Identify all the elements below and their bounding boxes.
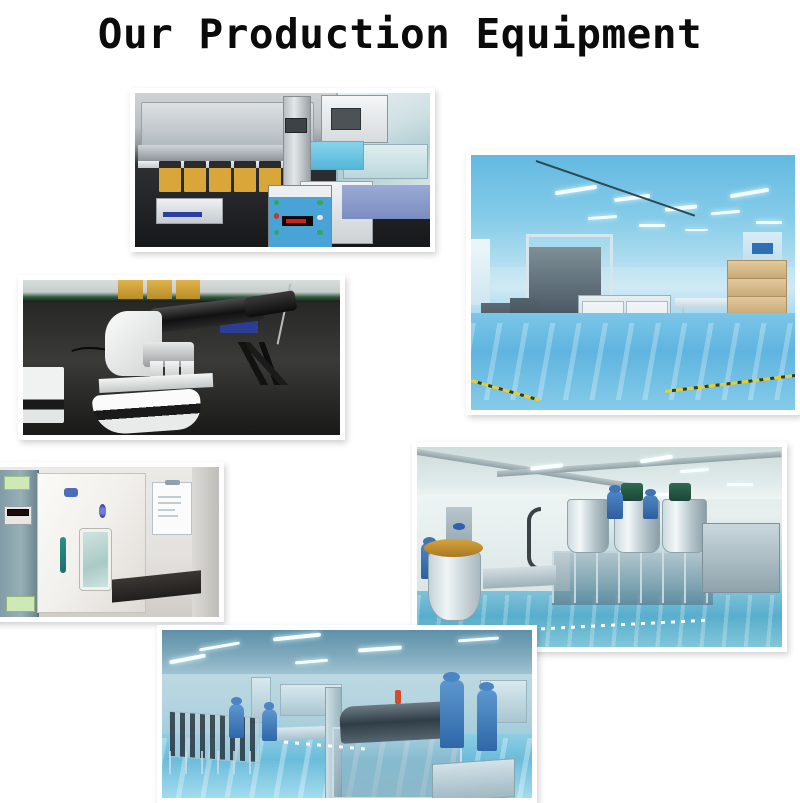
oven-viewing-window (80, 529, 112, 590)
worker-head (264, 702, 275, 709)
ceiling-lamp (756, 221, 782, 224)
floor-reflection (471, 323, 795, 400)
tester-button-green-bottom-left[interactable] (274, 230, 280, 236)
photo-drying-oven[interactable] (0, 462, 224, 622)
clipboard-text-line (158, 496, 181, 498)
work-platform-steps (432, 758, 515, 798)
kettle-lid-assembly (424, 539, 482, 557)
filling-machine-head (339, 701, 452, 744)
clipboard-text-line (158, 509, 175, 511)
worker-head (609, 485, 621, 493)
reagent-bottle (118, 280, 143, 299)
mixing-tank (567, 499, 609, 553)
photo-lab-testing[interactable] (130, 88, 435, 252)
worker-operator (607, 491, 623, 519)
photo-filling-line-image (162, 630, 532, 798)
oven-door-handle[interactable] (60, 537, 65, 573)
clipboard-text-line (158, 515, 178, 517)
reagent-bottle (147, 280, 172, 299)
tester-button-green-top-left[interactable] (274, 200, 280, 206)
worker-head (645, 489, 656, 496)
vial (159, 161, 181, 192)
wall-panel-left (471, 239, 490, 305)
worker-head (231, 697, 242, 705)
tester-display (285, 118, 306, 134)
magnetic-stirrer (156, 198, 223, 225)
vial (234, 161, 256, 192)
photo-microscope[interactable] (18, 275, 345, 440)
calibration-label-top (4, 476, 30, 490)
signal-tower-light (395, 690, 401, 703)
clipboard (152, 482, 192, 535)
microscope-base (91, 388, 201, 435)
page-title: Our Production Equipment (0, 10, 800, 58)
photo-cleanroom-line[interactable] (466, 150, 800, 415)
emulsifying-kettle (428, 551, 481, 621)
calibration-label-bottom (6, 596, 35, 612)
bench-drying-oven (321, 95, 388, 143)
display-digit-secondary (18, 509, 26, 515)
reagent-bottles (118, 280, 200, 299)
tester-control-base (268, 185, 332, 247)
oven-blue-seal-badge (99, 504, 106, 518)
ceiling-lamp (639, 224, 665, 227)
photo-microscope-image (23, 280, 340, 435)
tester-button-green-bottom-right[interactable] (317, 230, 323, 236)
tank-agitator-motor (669, 483, 691, 501)
tester-knob[interactable] (317, 215, 323, 221)
carton (727, 278, 787, 297)
room-wall-right (192, 467, 219, 617)
ceiling-lamp (727, 483, 753, 486)
worker-operator (477, 690, 497, 750)
stainless-sink-bench (273, 727, 325, 742)
photo-drying-oven-image (0, 467, 219, 617)
worker-operator (440, 680, 464, 747)
photo-mixing-tanks[interactable] (412, 442, 787, 652)
brand-logo (64, 488, 79, 498)
tester-led-readout (282, 216, 312, 226)
mixing-tank (662, 499, 708, 553)
tensile-tester-column (283, 96, 312, 193)
control-cabinet (0, 470, 39, 617)
production-equipment-page: { "page": { "title": "Our Production Equ… (0, 0, 800, 800)
auxiliary-equipment (702, 523, 781, 593)
worker-operator (229, 704, 245, 738)
platform-railings (552, 551, 713, 603)
carton (727, 260, 787, 279)
clipboard-clip (165, 480, 180, 485)
tank-agitator-motor (621, 483, 643, 501)
vial (184, 161, 206, 192)
conveyor-bench (483, 565, 556, 589)
vial (209, 161, 231, 192)
worker-head (479, 682, 494, 691)
photo-cleanroom-line-image (471, 155, 795, 410)
clipboard-text-line (158, 502, 181, 504)
black-hose (527, 507, 542, 571)
worker-operator (643, 495, 658, 519)
reagent-bottle (176, 280, 201, 299)
tester-button-red[interactable] (274, 213, 280, 219)
photo-filling-line[interactable] (157, 625, 537, 803)
blue-floor-strip (342, 185, 431, 219)
hand-tools (213, 342, 295, 385)
carton-stack (727, 260, 785, 314)
trolley-legs (169, 751, 258, 775)
secondary-instrument (23, 367, 64, 423)
worker-operator (262, 709, 277, 741)
photo-mixing-tanks-image (417, 447, 782, 647)
tester-button-green-top-right[interactable] (317, 200, 323, 206)
photo-lab-testing-image (135, 93, 430, 247)
temperature-display (4, 506, 33, 525)
display-digit-red (8, 509, 16, 515)
